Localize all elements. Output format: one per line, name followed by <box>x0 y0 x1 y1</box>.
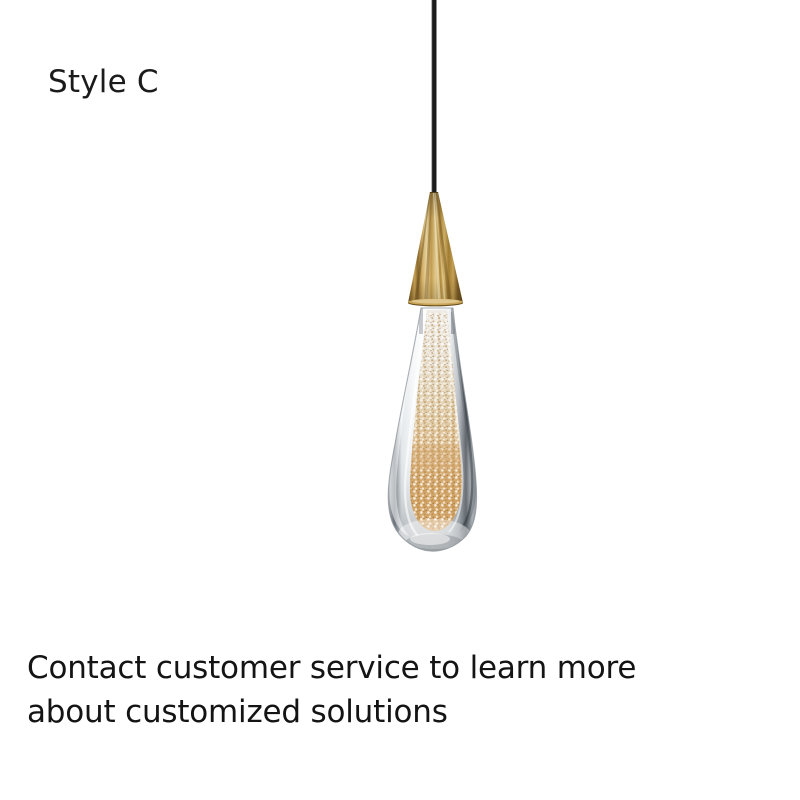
style-label: Style C <box>48 64 159 101</box>
caption-line-2: about customized solutions <box>27 690 727 734</box>
bubble-sparkle-core <box>400 305 470 540</box>
hanging-cord <box>432 0 437 196</box>
caption: Contact customer service to learn more a… <box>27 646 727 734</box>
product-scene: Style C <box>0 0 800 800</box>
glass-teardrop <box>385 300 485 560</box>
caption-line-1: Contact customer service to learn more <box>27 646 727 690</box>
brass-cone-shade <box>400 188 470 308</box>
